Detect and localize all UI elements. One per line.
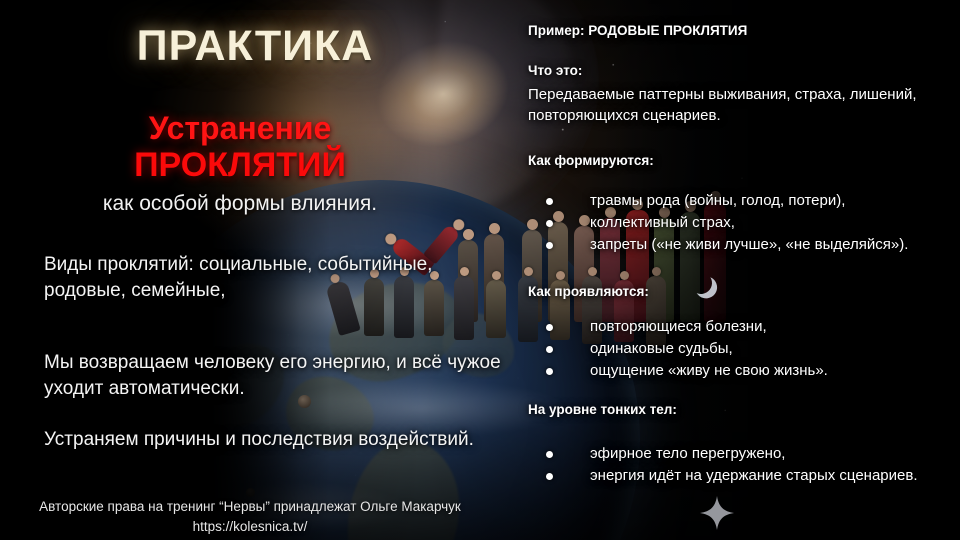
how-formed-heading: Как формируются: xyxy=(528,152,960,170)
example-heading: Пример: РОДОВЫЕ ПРОКЛЯТИЯ xyxy=(528,22,960,40)
subtitle-line-2: ПРОКЛЯТИЙ xyxy=(30,146,450,185)
paragraph-energy-return: Мы возвращаем человеку его энергию, и вс… xyxy=(44,350,514,402)
list-item: одинаковые судьбы, xyxy=(528,338,960,360)
left-text-column: ПРАКТИКА Устранение ПРОКЛЯТИЙ как особой… xyxy=(0,0,515,540)
how-manifest-heading: Как проявляются: xyxy=(528,283,960,301)
subtle-bodies-heading: На уровне тонких тел: xyxy=(528,401,960,419)
right-text-column: Пример: РОДОВЫЕ ПРОКЛЯТИЯ Что это: Перед… xyxy=(515,0,960,540)
paragraph-kinds-of-curses: Виды проклятий: социальные, событийные, … xyxy=(44,252,514,304)
list-item: повторяющиеся болезни, xyxy=(528,316,960,338)
list-item: коллективный страх, xyxy=(528,212,960,234)
subtle-bodies-list: эфирное тело перегружено, энергия идёт н… xyxy=(528,443,960,487)
presentation-slide: ПРАКТИКА Устранение ПРОКЛЯТИЙ как особой… xyxy=(0,0,960,540)
how-manifest-list: повторяющиеся болезни, одинаковые судьбы… xyxy=(528,316,960,382)
how-formed-list: травмы рода (войны, голод, потери), колл… xyxy=(528,190,960,256)
list-item: эфирное тело перегружено, xyxy=(528,443,960,465)
what-is-body: Передаваемые паттерны выживания, страха,… xyxy=(528,84,960,127)
what-is-heading: Что это: xyxy=(528,62,960,80)
copyright-footer: Авторские права на тренинг “Нервы” прина… xyxy=(10,497,490,536)
list-item: травмы рода (войны, голод, потери), xyxy=(528,190,960,212)
subtitle-line-1: Устранение xyxy=(30,110,450,148)
list-item: энергия идёт на удержание старых сценари… xyxy=(528,465,960,487)
list-item: ощущение «живу не свою жизнь». xyxy=(528,360,960,382)
subtitle-tail: как особой формы влияния. xyxy=(20,192,460,216)
list-item: запреты («не живи лучше», «не выделяйся»… xyxy=(528,234,960,256)
paragraph-causes-and-effects: Устраняем причины и последствия воздейст… xyxy=(44,427,514,453)
page-title: ПРАКТИКА xyxy=(30,22,480,71)
